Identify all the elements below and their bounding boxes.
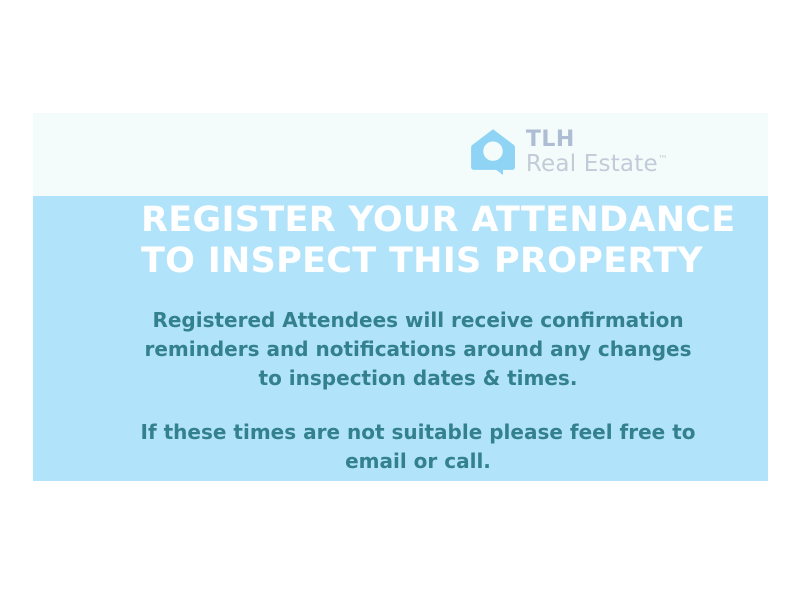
headline-line-2: TO INSPECT THIS PROPERTY — [141, 241, 701, 282]
logo-primary-text: TLH — [526, 129, 668, 151]
logo-secondary-label: Real Estate — [526, 151, 658, 177]
body-p2-line-2: email or call. — [133, 447, 703, 476]
house-speech-bubble-icon — [470, 128, 516, 176]
banner-content-band: REGISTER YOUR ATTENDANCE TO INSPECT THIS… — [33, 196, 768, 481]
logo-secondary-text: Real Estate™ — [526, 153, 668, 176]
logo-wordmark: TLH Real Estate™ — [526, 129, 668, 176]
banner-headline: REGISTER YOUR ATTENDANCE TO INSPECT THIS… — [141, 200, 701, 283]
banner-body-copy: Registered Attendees will receive confir… — [133, 306, 703, 476]
inspection-registration-banner: TLH Real Estate™ REGISTER YOUR ATTENDANC… — [33, 113, 768, 481]
body-p1-line-1: Registered Attendees will receive confir… — [133, 306, 703, 335]
body-p1-line-3: to inspection dates & times. — [133, 364, 703, 393]
body-p1-line-2: reminders and notifications around any c… — [133, 335, 703, 364]
body-paragraph-2: If these times are not suitable please f… — [133, 418, 703, 476]
trademark-icon: ™ — [658, 154, 668, 165]
body-paragraph-1: Registered Attendees will receive confir… — [133, 306, 703, 393]
logo-header-band: TLH Real Estate™ — [33, 113, 768, 196]
headline-line-1: REGISTER YOUR ATTENDANCE — [141, 200, 701, 241]
body-p2-line-1: If these times are not suitable please f… — [133, 418, 703, 447]
tlh-real-estate-logo: TLH Real Estate™ — [470, 128, 668, 176]
